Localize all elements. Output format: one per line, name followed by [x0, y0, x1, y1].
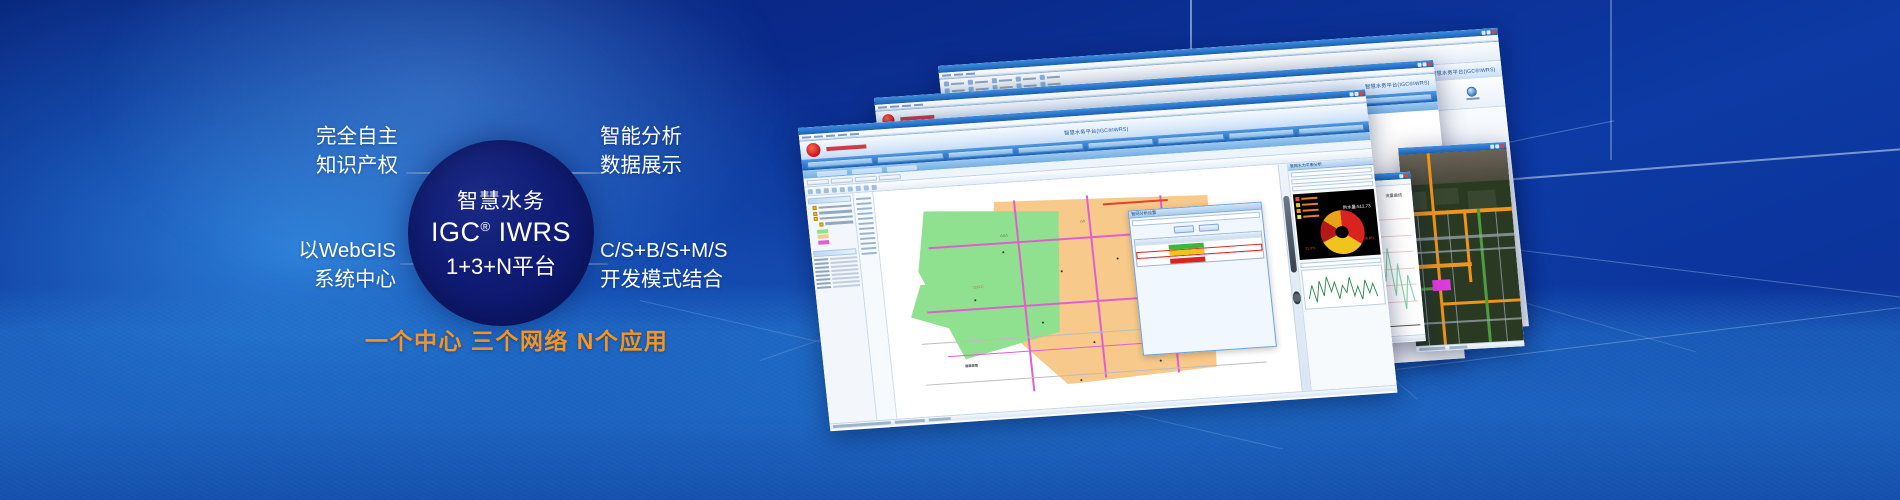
app-title: 智慧水务平台(IGC®IWRS) [1365, 79, 1430, 90]
minimize-icon[interactable] [1399, 174, 1403, 178]
company-logo-icon [806, 143, 821, 158]
label-line: 智能分析 [600, 122, 682, 151]
print-icon[interactable] [855, 185, 861, 190]
label-line: 数据展示 [600, 151, 682, 180]
label-line: C/S+B/S+M/S [600, 236, 728, 265]
label-line: 完全自主 [188, 122, 398, 151]
label-line: 开发模式结合 [600, 265, 728, 294]
layer-checkbox[interactable] [819, 222, 823, 226]
donut-ring [1318, 209, 1367, 256]
close-icon[interactable] [1491, 30, 1495, 34]
window-front-map-console[interactable]: 智慧水务平台(IGC®IWRS) [798, 89, 1398, 431]
pipe-analysis-dialog[interactable]: 管网分析设置 [1128, 202, 1277, 356]
banner-stage: 智慧水务平台(IGC®IWRS) [0, 0, 1900, 500]
label-top-left: 完全自主 知识产权 [188, 122, 398, 180]
layer-checkbox[interactable] [813, 211, 817, 215]
minimize-icon[interactable] [1490, 144, 1494, 148]
pipe-network-map[interactable]: △△△ □□□□□ △△ ▩▩▩▩ 管网分析设置 [873, 164, 1302, 418]
layer-checkbox[interactable] [814, 217, 818, 221]
pan-tool-icon[interactable] [816, 188, 822, 193]
map-top-band [1399, 149, 1510, 186]
tab[interactable] [878, 174, 900, 180]
label-line: 系统中心 [168, 265, 396, 294]
map-feature-label: △△ [1080, 219, 1086, 223]
maximize-icon[interactable] [1495, 144, 1499, 148]
label-bottom-right: C/S+B/S+M/S 开发模式结合 [600, 236, 728, 294]
analysis-result-table [1134, 231, 1264, 268]
close-icon[interactable] [1427, 62, 1431, 66]
ribbon-icon[interactable] [992, 78, 998, 83]
tab[interactable] [831, 177, 853, 183]
tab[interactable] [807, 179, 829, 185]
chart-caption: 流量曲线 [1385, 192, 1402, 199]
badge-line-2: IGC® IWRS [431, 217, 571, 248]
maximize-icon[interactable] [1486, 30, 1490, 34]
label-bottom-left: 以WebGIS 系统中心 [168, 236, 396, 294]
app-title: 智慧水务平台(IGC®IWRS) [1064, 125, 1129, 136]
maximize-icon[interactable] [1422, 62, 1426, 66]
refresh-icon[interactable] [871, 184, 877, 189]
map-feature-label: ▩▩▩▩ [965, 363, 978, 368]
registered-mark-icon: ® [480, 219, 490, 234]
pointer-tool-icon[interactable] [808, 189, 814, 194]
badge-brand-iwrs: IWRS [499, 217, 572, 247]
close-icon[interactable] [1500, 144, 1504, 148]
map-feature-label: □□□□□ [973, 285, 984, 290]
console-body: △△△ □□□□□ △△ ▩▩▩▩ 管网分析设置 [805, 158, 1396, 423]
center-badge: 智慧水务 IGC® IWRS 1+3+N平台 [408, 140, 594, 326]
map-feature-label: △△△ [1000, 233, 1008, 238]
export-icon[interactable] [863, 185, 869, 190]
ribbon-icon[interactable] [944, 81, 950, 86]
measure-tool-icon[interactable] [839, 186, 845, 191]
logo-wordmark [826, 144, 866, 151]
label-line: 知识产权 [188, 151, 398, 180]
pan-navigation-pad[interactable] [1292, 291, 1301, 304]
ribbon-icon[interactable] [1040, 75, 1046, 80]
tab[interactable] [854, 175, 876, 181]
supply-donut-chart: 供水量:512.73 21.3% 36.8% [1293, 189, 1381, 260]
app-title: 智慧水务平台(IGC®IWRS) [1431, 66, 1496, 77]
dialog-cancel-button[interactable] [1199, 224, 1220, 232]
mini-trend-chart [1301, 264, 1386, 309]
ribbon-icon[interactable] [1016, 76, 1022, 81]
selected-area-highlight [1432, 279, 1451, 291]
minimize-icon[interactable] [1417, 62, 1421, 66]
donut-legend [1295, 196, 1320, 221]
minimize-icon[interactable] [1349, 92, 1353, 96]
map-legend [817, 227, 856, 244]
close-icon[interactable] [1359, 91, 1363, 95]
label-line: 以WebGIS [168, 236, 396, 265]
layer-checkbox[interactable] [812, 206, 816, 210]
module-icon[interactable] [1467, 86, 1478, 97]
badge-line-1: 智慧水务 [457, 185, 545, 215]
close-icon[interactable] [1404, 173, 1408, 177]
maximize-icon[interactable] [1354, 91, 1358, 95]
badge-line-3: 1+3+N平台 [446, 249, 556, 281]
dialog-confirm-button[interactable] [1174, 226, 1195, 234]
zoom-in-icon[interactable] [824, 188, 830, 193]
badge-brand-igc: IGC [431, 217, 481, 247]
minimize-icon[interactable] [1481, 30, 1485, 34]
zoom-out-icon[interactable] [831, 187, 837, 192]
ribbon-icon[interactable] [968, 80, 974, 85]
label-top-right: 智能分析 数据展示 [600, 122, 682, 180]
identify-tool-icon[interactable] [847, 186, 853, 191]
tagline: 一个中心 三个网络 N个应用 [365, 322, 668, 356]
